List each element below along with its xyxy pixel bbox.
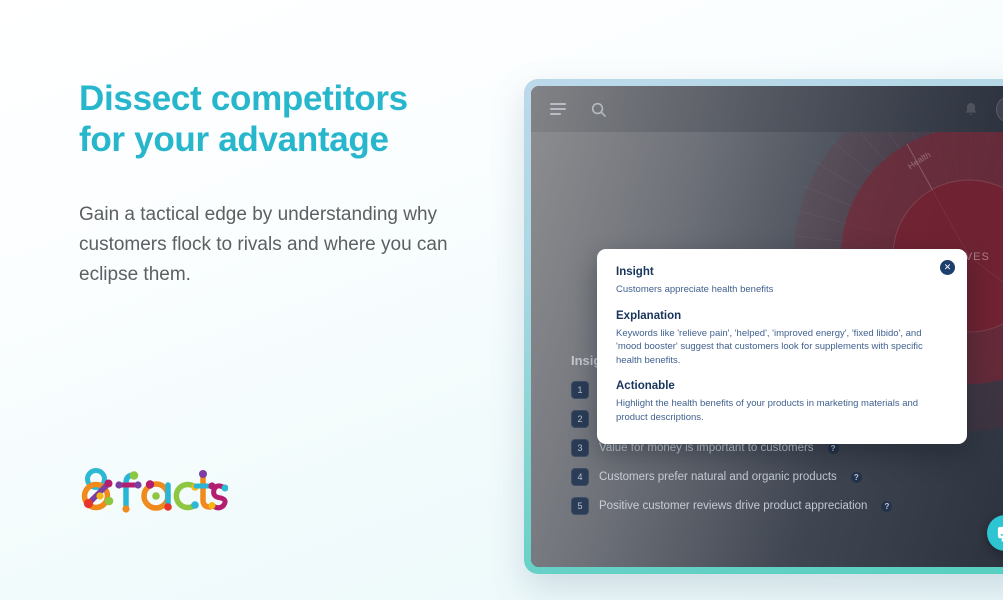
app-top-bar: W	[531, 86, 1003, 132]
close-icon[interactable]: ✕	[940, 260, 955, 275]
headline-line-1: Dissect competitors	[79, 79, 408, 118]
insight-list-item[interactable]: 4 Customers prefer natural and organic p…	[571, 467, 1003, 487]
insight-rank-badge: 4	[571, 468, 589, 486]
insight-heading: Insight	[616, 266, 948, 278]
explanation-body: Keywords like 'relieve pain', 'helped', …	[616, 327, 948, 368]
page-title: Dissect competitors for your advantage	[79, 78, 499, 160]
hamburger-menu-icon[interactable]	[547, 98, 569, 120]
insight-rank-badge: 1	[571, 381, 589, 399]
insight-rank-badge: 5	[571, 497, 589, 515]
avatar[interactable]: W	[996, 96, 1003, 123]
insight-list-item[interactable]: 5 Positive customer reviews drive produc…	[571, 496, 1003, 516]
marketing-panel: Dissect competitors for your advantage G…	[79, 78, 499, 290]
insight-body: Customers appreciate health benefits	[616, 283, 948, 297]
insight-label: Customers prefer natural and organic pro…	[599, 471, 837, 483]
insight-rank-badge: 2	[571, 410, 589, 428]
brand-logo	[78, 466, 228, 514]
actionable-body: Highlight the health benefits of your pr…	[616, 397, 948, 424]
help-icon[interactable]: ?	[881, 501, 892, 512]
app-window: LOVES Product Quality Health quality gre…	[531, 86, 1003, 567]
help-icon[interactable]: ?	[851, 472, 862, 483]
bell-icon[interactable]	[960, 98, 982, 120]
subcopy-text: Gain a tactical edge by understanding wh…	[79, 200, 469, 290]
app-screenshot-frame: LOVES Product Quality Health quality gre…	[524, 79, 1003, 574]
insight-detail-card: ✕ Insight Customers appreciate health be…	[597, 249, 967, 444]
insight-rank-badge: 3	[571, 439, 589, 457]
insight-label: Positive customer reviews drive product …	[599, 500, 867, 512]
explanation-heading: Explanation	[616, 310, 948, 322]
headline-line-2: for your advantage	[79, 120, 389, 159]
search-icon[interactable]	[587, 98, 609, 120]
help-icon[interactable]: ?	[828, 443, 839, 454]
actionable-heading: Actionable	[616, 380, 948, 392]
